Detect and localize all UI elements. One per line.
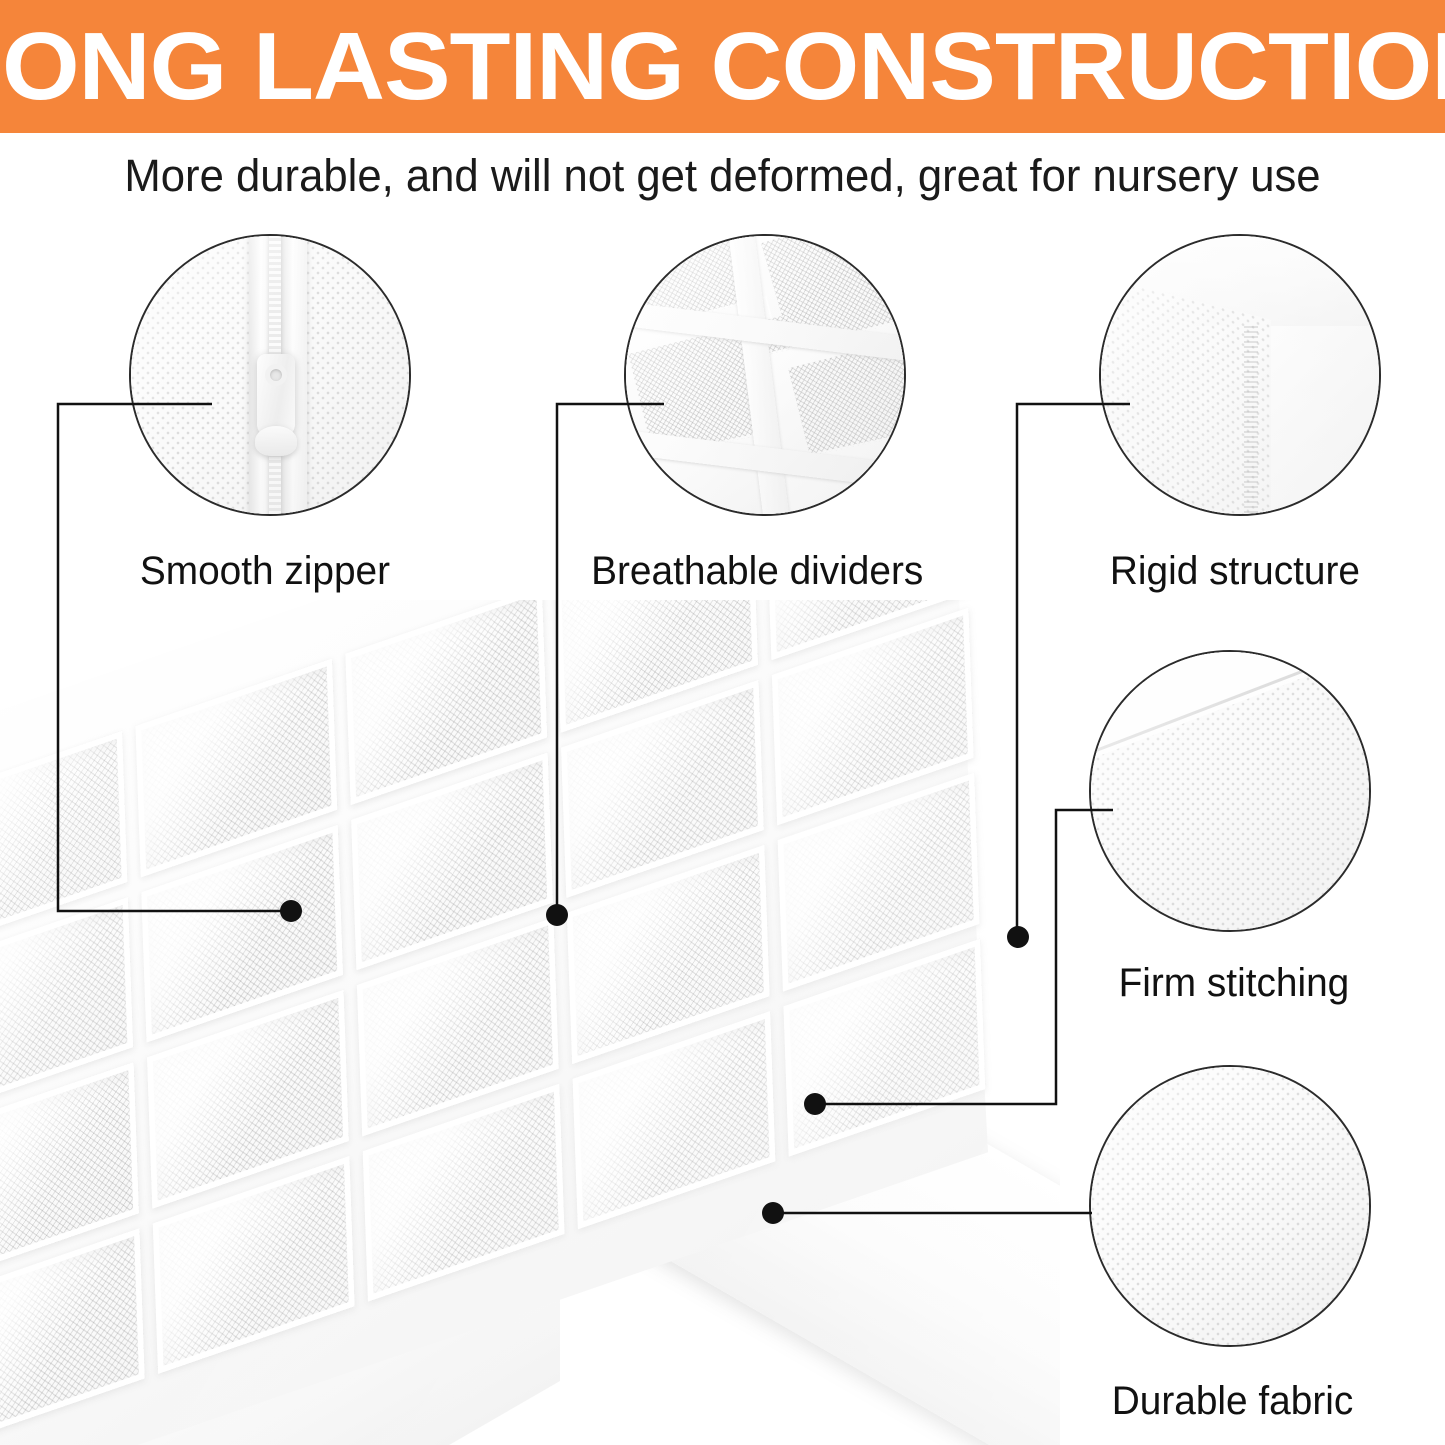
circle-shading (1101, 236, 1379, 514)
feature-label-smooth-zipper: Smooth zipper (140, 548, 390, 594)
detail-circle-rigid-structure (1099, 234, 1381, 516)
circle-shading (1091, 1067, 1369, 1345)
subtitle-text: More durable, and will not get deformed,… (22, 150, 1424, 202)
feature-label-durable-fabric: Durable fabric (1112, 1378, 1354, 1424)
detail-circle-firm-stitching (1089, 650, 1371, 932)
product-photo (0, 600, 1060, 1445)
feature-label-breathable-dividers: Breathable dividers (591, 548, 923, 594)
detail-circle-smooth-zipper (129, 234, 411, 516)
feature-label-firm-stitching: Firm stitching (1119, 960, 1350, 1006)
feature-label-rigid-structure: Rigid structure (1110, 548, 1360, 594)
header-banner: LONG LASTING CONSTRUCTION (0, 0, 1445, 133)
circle-shading (626, 236, 904, 514)
detail-circle-durable-fabric (1089, 1065, 1371, 1347)
detail-circle-breathable-dividers (624, 234, 906, 516)
page-title: LONG LASTING CONSTRUCTION (0, 19, 1445, 115)
circle-shading (131, 236, 409, 514)
circle-shading (1091, 652, 1369, 930)
